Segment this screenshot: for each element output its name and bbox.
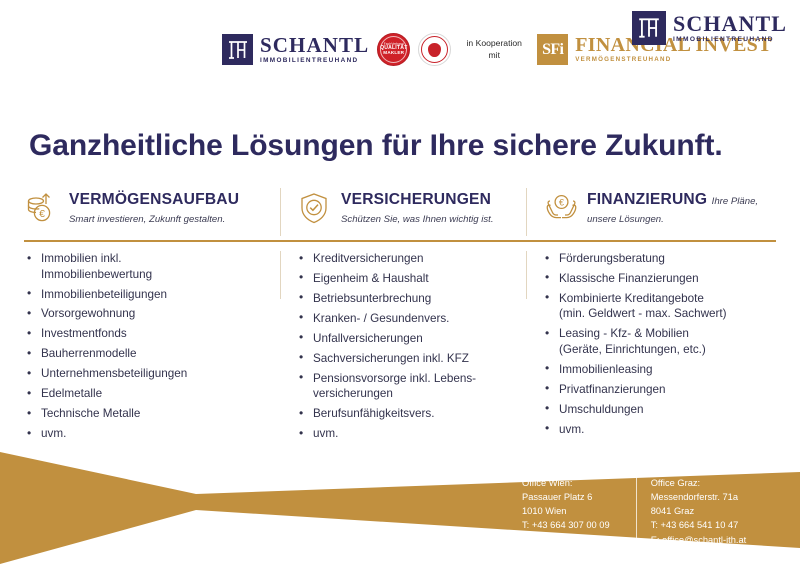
list-item: Kreditversicherungen [296,251,512,267]
coins-euro-growth-icon: € [24,190,60,226]
seal-line-3: MAKLER [383,51,404,56]
office-title: Office Wien: [522,476,622,490]
list-item: Pensionsvorsorge inkl. Lebens- versicher… [296,371,512,402]
wirtschaftskammer-seal-icon [418,33,451,66]
schantl-subtitle: IMMOBILIENTREUHAND [260,58,369,64]
list-item-text: Kombinierte Kreditangebote [559,292,704,305]
office-wien-block: Office Wien: Passauer Platz 6 1010 Wien … [522,476,636,547]
section-title: VERSICHERUNGEN [341,191,491,208]
qualitaets-makler-seal-icon: FachVerband QUALITÄT MAKLER [377,33,410,66]
gold-divider [24,240,776,242]
office-city: 1010 Wien [522,504,622,518]
corner-ith-monogram-icon [632,11,666,45]
bullet-list: Immobilien inkl. Immobilienbewertung Imm… [24,251,266,442]
col-titles: VERMÖGENSAUFBAU Smart investieren, Zukun… [69,188,266,227]
corner-logo-inner: SCHANTL IMMOBILIENTREUHAND [632,11,787,45]
office-city: 8041 Graz [651,504,747,518]
bullet-list: Kreditversicherungen Eigenheim & Haushal… [296,251,512,442]
list-item-cont: versicherungen [313,386,512,402]
page-title: Ganzheitliche Lösungen für Ihre sichere … [29,129,723,163]
sfi-subtitle: VERMÖGENSTREUHAND [575,57,772,63]
sfi-monogram-icon: SFi [537,34,568,65]
list-item: Bauherrenmodelle [24,346,266,362]
list-item: Betriebsunterbrechung [296,291,512,307]
list-item-cont: Immobilienbewertung [41,267,266,283]
list-item: Investmentfonds [24,326,266,342]
list-item: Förderungsberatung [542,251,776,267]
office-email[interactable]: E: office@sfi-invest.com [522,533,622,547]
seal-ring [421,36,448,63]
list-item: Vorsorgewohnung [24,306,266,322]
list-finanzierung: Förderungsberatung Klassische Finanzieru… [526,251,776,446]
list-item: Unternehmensbeteiligungen [24,366,266,382]
list-item: Leasing - Kfz- & Mobilien (Geräte, Einri… [542,326,776,357]
header-logo-bar: SCHANTL IMMOBILIENTREUHAND FachVerband Q… [0,0,800,104]
section-title: VERMÖGENSAUFBAU [69,191,239,208]
list-item: Privatfinanzierungen [542,382,776,398]
office-phone[interactable]: T: +43 664 307 00 09 [522,518,622,532]
office-email[interactable]: E: office@schantl-ith.at [651,533,747,547]
corner-schantl-ith-logo: SCHANTL IMMOBILIENTREUHAND [632,11,787,45]
schantl-ith-logo: SCHANTL IMMOBILIENTREUHAND [222,34,369,65]
flyer-page: SCHANTL IMMOBILIENTREUHAND FachVerband Q… [0,0,800,564]
list-item: Immobilienbeteiligungen [24,287,266,303]
column-header-finanzierung: € FINANZIERUNG Ihre Pläne, unsere Lösung… [526,188,776,232]
office-title: Office Graz: [651,476,747,490]
column-header-vermoegensaufbau: € VERMÖGENSAUFBAU Smart investieren, Zuk… [24,188,280,232]
list-item: uvm. [542,422,776,438]
list-item: Berufsunfähigkeitsvers. [296,406,512,422]
corner-schantl-wordmark: SCHANTL IMMOBILIENTREUHAND [673,13,787,44]
schantl-name: SCHANTL [260,35,369,56]
shield-check-icon [296,190,332,226]
svg-text:€: € [39,208,45,220]
footer-contacts: Office Wien: Passauer Platz 6 1010 Wien … [522,476,746,547]
list-versicherungen: Kreditversicherungen Eigenheim & Haushal… [280,251,526,446]
svg-text:€: € [559,198,564,208]
list-item-text: Immobilien inkl. [41,252,122,265]
hands-holding-coin-icon: € [542,190,578,226]
list-item: Kombinierte Kreditangebote (min. Geldwer… [542,291,776,322]
schantl-wordmark: SCHANTL IMMOBILIENTREUHAND [260,35,369,64]
list-item-text: Leasing - Kfz- & Mobilien [559,327,689,340]
list-item: Klassische Finanzierungen [542,271,776,287]
list-item-text: Pensionsvorsorge inkl. Lebens- [313,372,476,385]
list-item: Immobilienleasing [542,362,776,378]
list-item: Kranken- / Gesundenvers. [296,311,512,327]
col-head: VERSICHERUNGEN Schützen Sie, was Ihnen w… [296,188,512,232]
column-header-versicherungen: VERSICHERUNGEN Schützen Sie, was Ihnen w… [280,188,526,232]
list-item: Sachversicherungen inkl. KFZ [296,351,512,367]
office-street: Passauer Platz 6 [522,490,622,504]
col-titles: FINANZIERUNG Ihre Pläne, unsere Lösungen… [587,188,776,227]
list-vermoegensaufbau: Immobilien inkl. Immobilienbewertung Imm… [24,251,280,446]
section-subtitle: Smart investieren, Zukunft gestalten. [69,214,225,225]
seal-inner: FachVerband QUALITÄT MAKLER [380,36,407,63]
corner-schantl-subtitle: IMMOBILIENTREUHAND [673,37,787,44]
corner-schantl-name: SCHANTL [673,13,787,35]
list-item-cont: (min. Geldwert - max. Sachwert) [559,306,776,322]
list-item: Eigenheim & Haushalt [296,271,512,287]
list-item: Unfallversicherungen [296,331,512,347]
col-titles: VERSICHERUNGEN Schützen Sie, was Ihnen w… [341,188,512,227]
office-street: Messendorferstr. 71a [651,490,747,504]
office-graz-block: Office Graz: Messendorferstr. 71a 8041 G… [636,476,747,547]
list-item-cont: (Geräte, Einrichtungen, etc.) [559,342,776,358]
bullet-list: Förderungsberatung Klassische Finanzieru… [542,251,776,437]
section-headers: € VERMÖGENSAUFBAU Smart investieren, Zuk… [24,188,776,232]
cooperation-label: in Kooperation mit [463,38,525,61]
office-phone[interactable]: T: +43 664 541 10 47 [651,518,747,532]
section-title: FINANZIERUNG [587,191,707,208]
list-item: Technische Metalle [24,406,266,422]
ith-monogram-icon [222,34,253,65]
col-head: € FINANZIERUNG Ihre Pläne, unsere Lösung… [542,188,776,232]
list-item: Edelmetalle [24,386,266,402]
list-item: Immobilien inkl. Immobilienbewertung [24,251,266,282]
sfi-monogram-text: SFi [542,41,563,59]
col-head: € VERMÖGENSAUFBAU Smart investieren, Zuk… [24,188,266,232]
service-lists: Immobilien inkl. Immobilienbewertung Imm… [24,251,776,446]
section-subtitle: Schützen Sie, was Ihnen wichtig ist. [341,214,494,225]
list-item: Umschuldungen [542,402,776,418]
